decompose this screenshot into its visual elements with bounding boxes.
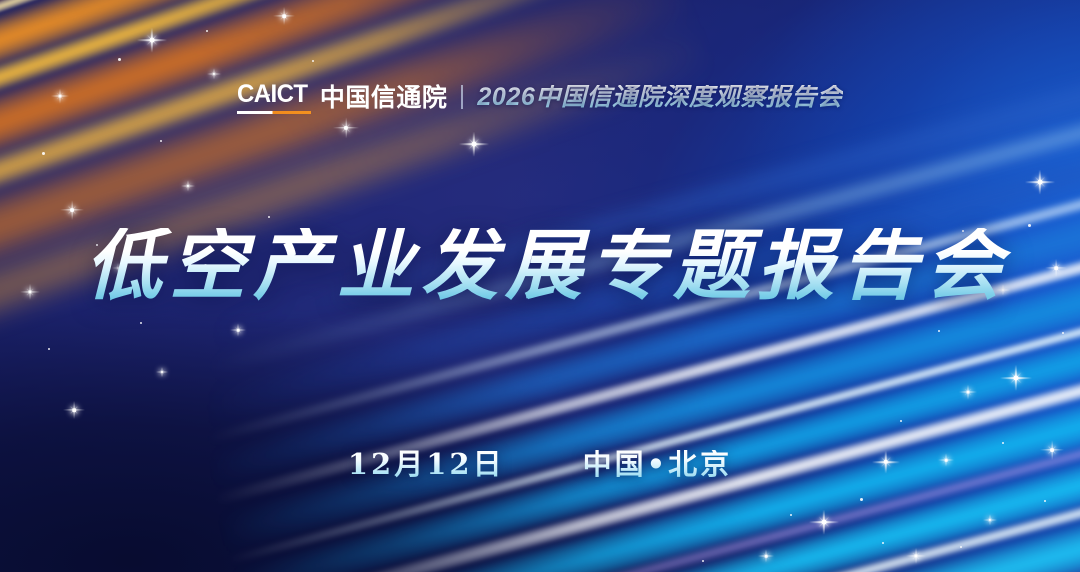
caict-logo: CAICT 中国信通院 — [237, 82, 447, 114]
caict-logo-latin: CAICT — [237, 82, 307, 107]
caict-logo-underline — [237, 111, 310, 114]
poster-footer: 12月12日 中国•北京 — [0, 450, 1080, 479]
event-series-title: 2026中国信通院深度观察报告会 — [477, 85, 842, 112]
header-separator — [461, 85, 463, 109]
caict-logomark: CAICT — [237, 82, 310, 114]
poster-header: CAICT 中国信通院 2026中国信通院深度观察报告会 — [0, 82, 1080, 114]
event-location: 中国•北京 — [583, 450, 733, 479]
event-date: 12月12日 — [348, 450, 505, 479]
event-poster: CAICT 中国信通院 2026中国信通院深度观察报告会 低空产业发展专题报告会… — [0, 0, 1080, 572]
page-title: 低空产业发展专题报告会 — [0, 228, 1080, 305]
caict-logo-chinese: 中国信通院 — [320, 86, 448, 114]
